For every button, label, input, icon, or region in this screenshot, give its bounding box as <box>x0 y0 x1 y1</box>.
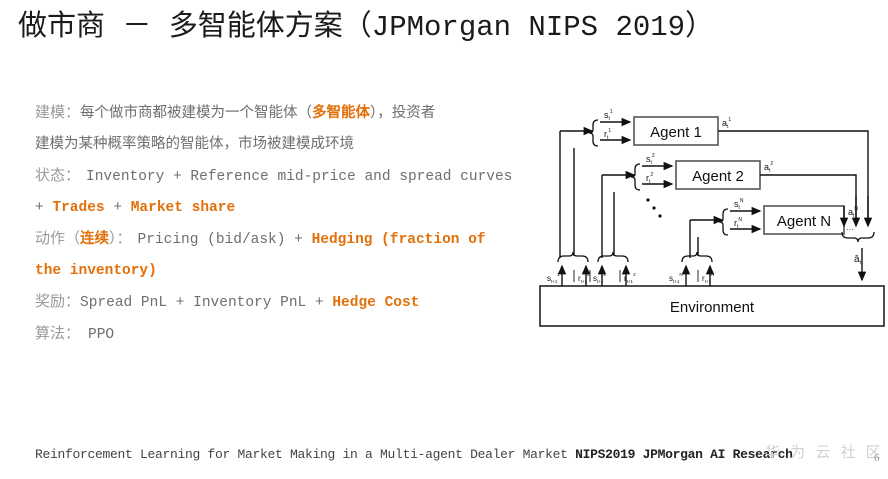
agent-n-reward-label: rtN <box>734 217 742 230</box>
agent-1-state-label: st1 <box>604 109 613 122</box>
action-highlight-2: the inventory) <box>35 263 157 279</box>
feedback-label-r2: rt+12 <box>624 272 636 284</box>
modeling-label: 建模： <box>35 105 80 122</box>
modeling-text-2: ），投资者 <box>370 106 435 122</box>
agent-1-action-label: at1 <box>722 117 731 130</box>
page-number: 6 <box>874 452 880 464</box>
action-highlight-label: 连续 <box>80 232 109 248</box>
body-text-block: 建模：每个做市商都被建模为一个智能体（多智能体），投资者 建模为某种概率策略的智… <box>35 98 525 351</box>
action-text-1: Pricing (bid/ask) + <box>132 232 312 248</box>
diagonal-ellipsis <box>646 198 661 217</box>
agent-n-state-label: stN <box>734 198 744 211</box>
feedback-label-s2: st+12 <box>593 272 606 284</box>
state-line-2: + Trades + Market share <box>35 193 525 224</box>
reward-line: 奖励：Spread PnL + Inventory PnL + Hedge Co… <box>35 287 525 319</box>
algorithm-text-1: PPO <box>80 327 114 343</box>
reward-text-1: Spread PnL + Inventory PnL + <box>80 295 332 311</box>
state-highlight-trades: Trades <box>52 200 104 216</box>
action-line-1: 动作（连续）：Pricing (bid/ask) + Hedging (frac… <box>35 224 525 256</box>
watermark: 华 为 云 社 区 <box>765 441 884 462</box>
modeling-text-1: 每个做市商都被建模为一个智能体（ <box>80 106 312 122</box>
reward-label: 奖励： <box>35 294 80 311</box>
agent-n-action-label: atN <box>848 206 858 219</box>
state-text-1: Inventory + Reference mid-price and spre… <box>80 169 512 185</box>
modeling-highlight: 多智能体 <box>312 106 370 122</box>
feedback-label-r1: rt+11 <box>578 272 590 284</box>
footer-text: Reinforcement Learning for Market Making… <box>35 447 575 462</box>
state-highlight-market-share: Market share <box>131 200 235 216</box>
horizontal-ellipsis: ··· <box>846 225 854 234</box>
slide-root: 做市商 － 多智能体方案（JPMorgan NIPS 2019） 建模：每个做市… <box>0 0 888 479</box>
page-title: 做市商 － 多智能体方案（JPMorgan NIPS 2019） <box>18 8 714 48</box>
agent-2-action-label: at2 <box>764 161 773 174</box>
agent-2-state-label: st2 <box>646 153 655 166</box>
action-label-2: ）： <box>109 231 132 248</box>
state-line-2-prefix: + <box>35 200 52 216</box>
agent-1-label: Agent 1 <box>650 124 702 141</box>
feedback-label-s1: st+11 <box>547 272 560 284</box>
feedback-label-rn: rt+1N <box>702 272 714 284</box>
state-line-2-mid: + <box>105 200 131 216</box>
reward-highlight: Hedge Cost <box>332 295 419 311</box>
agent-n-label: Agent N <box>777 213 831 230</box>
feedback-label-sn: st+1N <box>669 272 683 284</box>
agent-1-reward-label: rt1 <box>604 128 611 141</box>
agent-2-label: Agent 2 <box>692 168 744 185</box>
action-highlight-1: Hedging (fraction of <box>312 232 486 248</box>
footer-bold-text: NIPS2019 JPMorgan AI Research <box>575 447 793 462</box>
algorithm-label: 算法： <box>35 326 80 343</box>
environment-label: Environment <box>670 299 755 316</box>
modeling-line-1: 建模：每个做市商都被建模为一个智能体（多智能体），投资者 <box>35 98 525 130</box>
state-line-1: 状态：Inventory + Reference mid-price and s… <box>35 161 525 193</box>
action-label-1: 动作（ <box>35 231 80 248</box>
agent-2-reward-label: rt2 <box>646 172 653 185</box>
footer-citation: Reinforcement Learning for Market Making… <box>35 447 793 462</box>
modeling-line-2-text: 建模为某种概率策略的智能体，市场被建模成环境 <box>35 137 354 153</box>
algorithm-line: 算法：PPO <box>35 319 525 351</box>
action-line-2: the inventory) <box>35 256 525 287</box>
multi-agent-rl-diagram: Agent 1 Agent 2 Agent N Environment st1 … <box>536 96 888 332</box>
modeling-line-2: 建模为某种概率策略的智能体，市场被建模成环境 <box>35 130 525 161</box>
state-label: 状态： <box>35 168 80 185</box>
joint-action-label: āt <box>854 254 862 266</box>
